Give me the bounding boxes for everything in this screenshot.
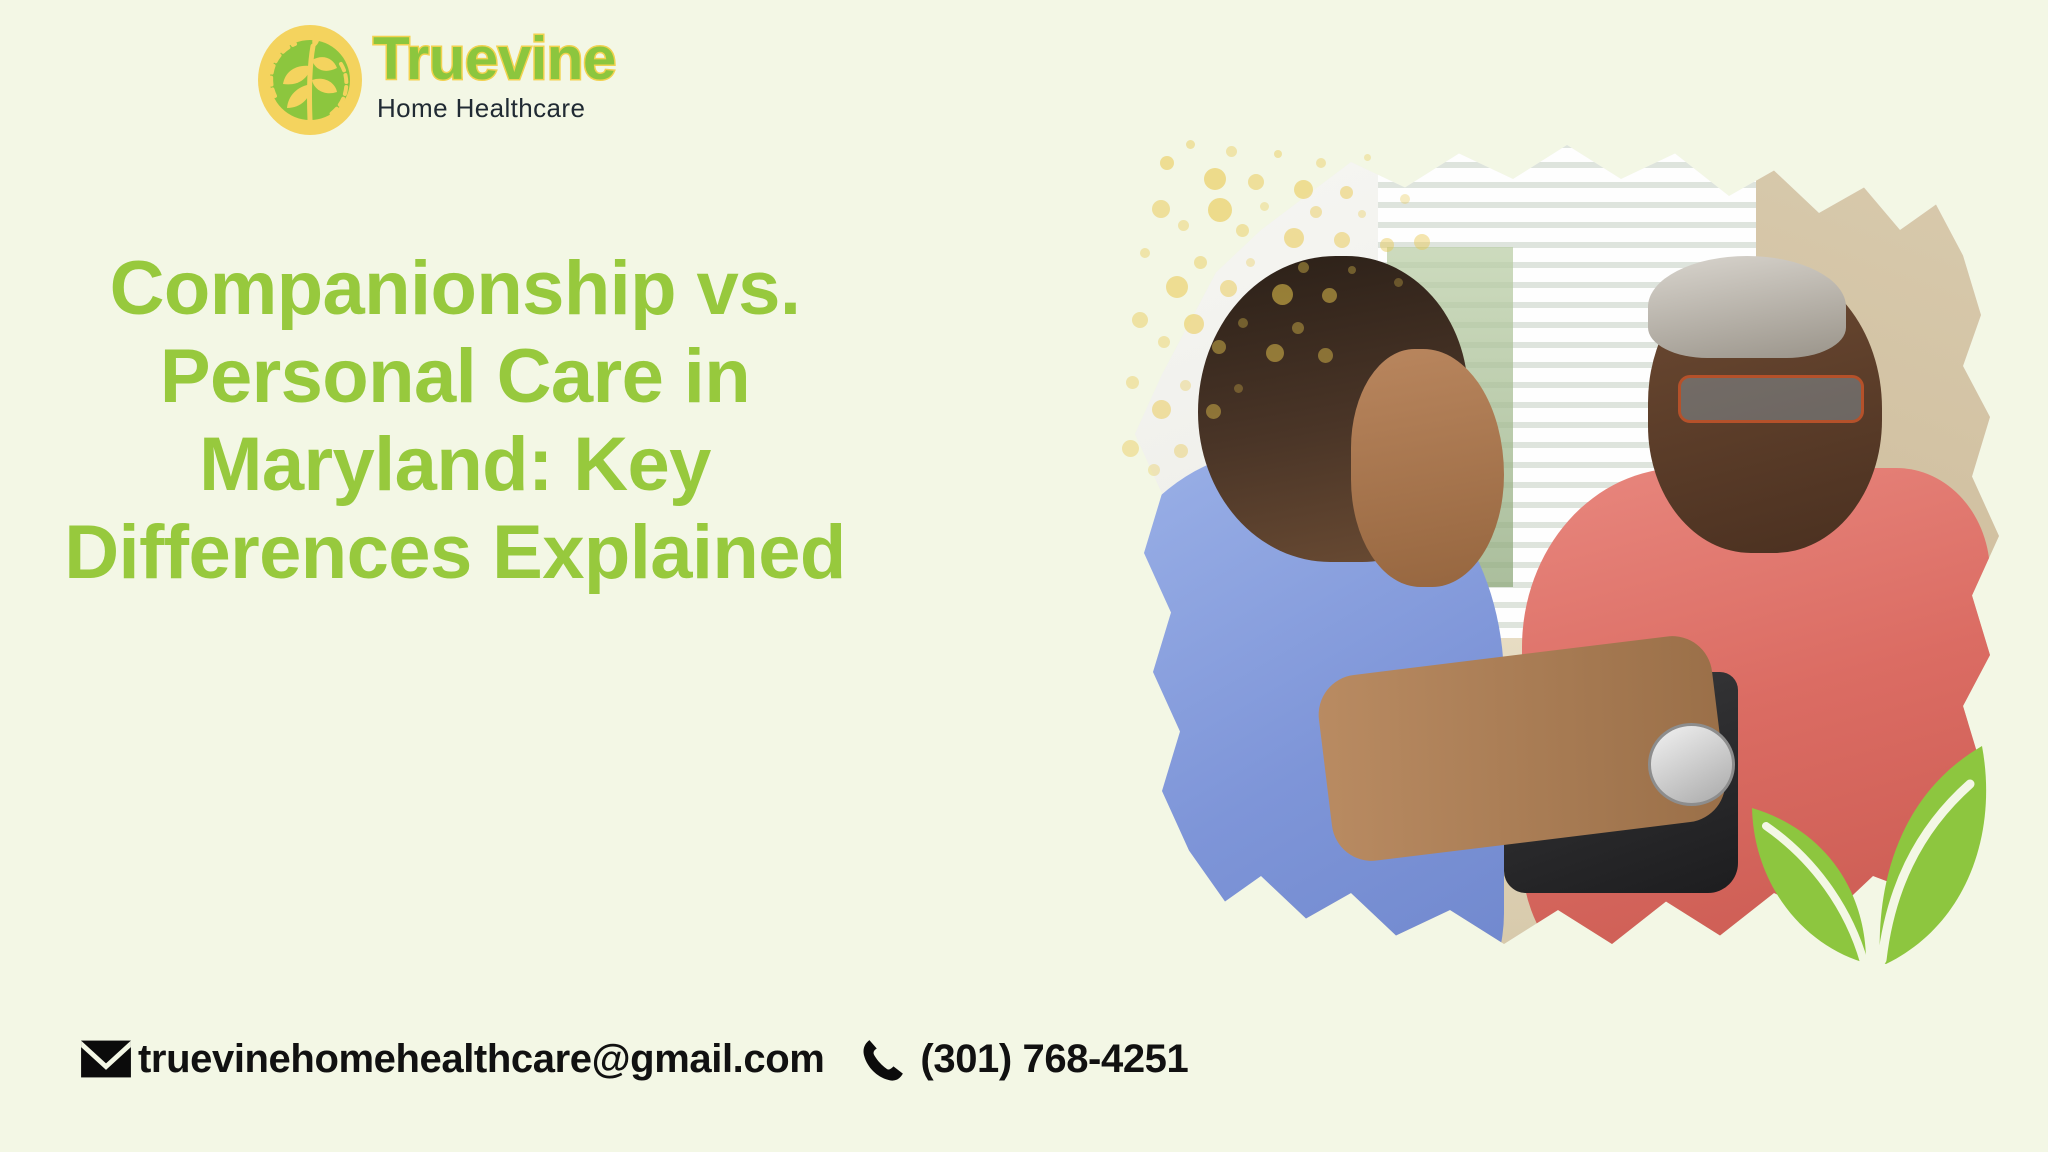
bokeh-dot [1316, 158, 1326, 168]
bokeh-dot [1166, 276, 1188, 298]
email-contact[interactable]: truevinehomehealthcare@gmail.com [80, 1037, 824, 1082]
logo-block[interactable]: Truevine Home Healthcare [255, 22, 615, 137]
flyer-canvas: Truevine Home Healthcare Companionship v… [0, 0, 2048, 1152]
brand-tagline: Home Healthcare [377, 93, 613, 124]
photo-stethoscope [1648, 723, 1735, 806]
bokeh-dot [1226, 146, 1237, 157]
phone-contact[interactable]: (301) 768-4251 [860, 1036, 1188, 1082]
bokeh-dot [1132, 312, 1148, 328]
headline-line-1: Companionship vs. [60, 245, 850, 333]
bokeh-dot [1364, 154, 1371, 161]
bokeh-dot [1194, 256, 1207, 269]
headline-line-2: Personal Care in [60, 333, 850, 421]
logo-text: Truevine Home Healthcare [373, 30, 613, 124]
phone-number: (301) 768-4251 [920, 1037, 1188, 1082]
bokeh-dot [1122, 440, 1139, 457]
headline-line-3: Maryland: Key [60, 421, 850, 509]
bokeh-dot [1248, 174, 1264, 190]
bokeh-dot [1186, 140, 1195, 149]
page-title: Companionship vs. Personal Care in Maryl… [60, 245, 850, 598]
email-address: truevinehomehealthcare@gmail.com [138, 1037, 824, 1082]
headline-line-4: Differences Explained [60, 509, 850, 597]
bokeh-dot [1160, 156, 1174, 170]
photo-patient-glasses [1678, 375, 1864, 424]
envelope-icon [80, 1039, 132, 1079]
hero-photo [1108, 128, 2008, 978]
bokeh-dot [1126, 376, 1139, 389]
bokeh-dot [1158, 336, 1170, 348]
brand-name: Truevine [373, 30, 613, 87]
photo-blob-mask [1108, 128, 2008, 978]
bokeh-dot [1260, 202, 1269, 211]
bokeh-dot [1236, 224, 1249, 237]
photo-patient-hair [1648, 256, 1846, 358]
bokeh-dot [1208, 198, 1232, 222]
bokeh-dot [1274, 150, 1282, 158]
bokeh-dot [1178, 220, 1189, 231]
contact-bar: truevinehomehealthcare@gmail.com (301) 7… [80, 1036, 1188, 1082]
leaf-vine-emblem-icon [255, 24, 365, 136]
bokeh-dot [1152, 200, 1170, 218]
phone-handset-icon [860, 1036, 906, 1082]
bokeh-dot [1204, 168, 1226, 190]
bokeh-dot [1140, 248, 1150, 258]
